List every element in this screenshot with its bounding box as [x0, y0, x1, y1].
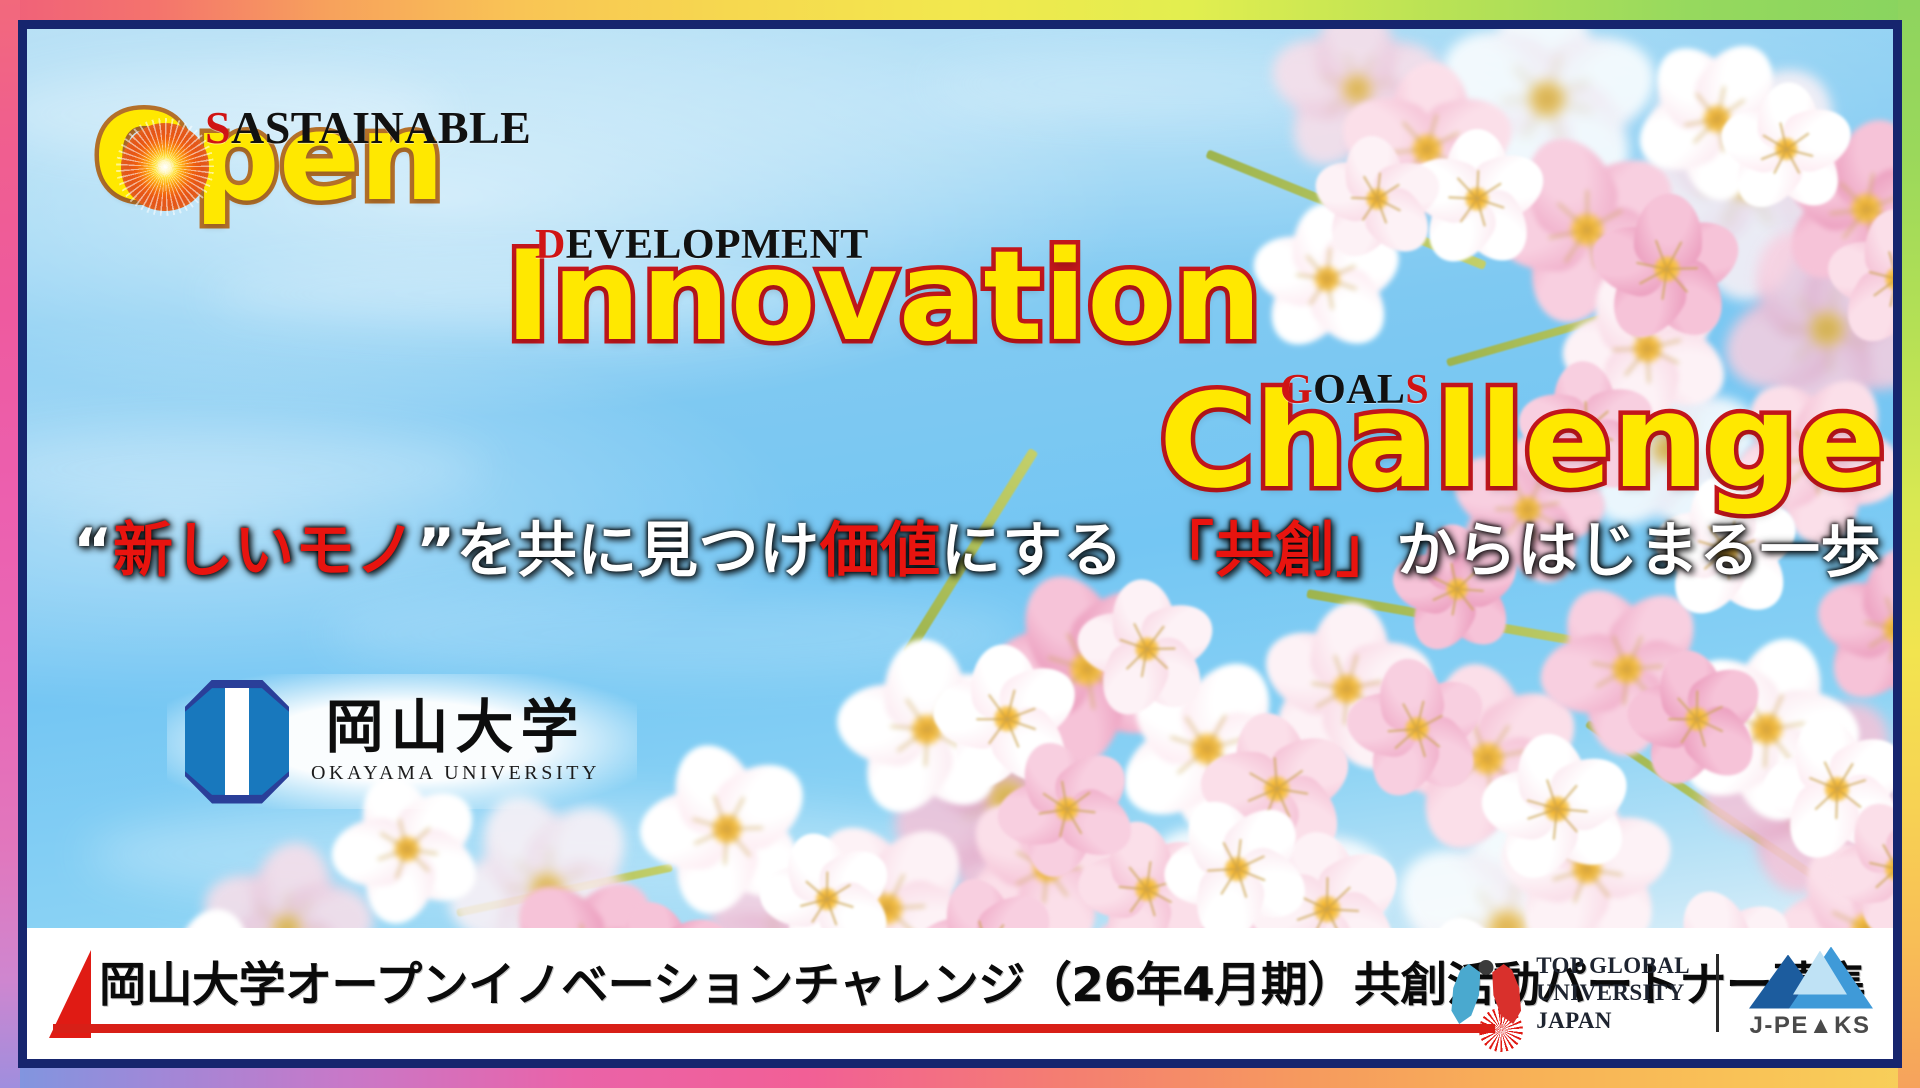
okayama-octagon-mark [185, 680, 289, 804]
tagline-quote-close: ” [416, 516, 456, 586]
promotional-banner: Open SASTAINABLE Innovation DEVELOPMENT … [0, 0, 1920, 1088]
tgu-line-2: UNIVERSITY [1536, 979, 1690, 1007]
okayama-university-name-en: OKAYAMA UNIVERSITY [311, 762, 600, 785]
j-peaks-wordmark: J-PE▲KS [1750, 1012, 1871, 1040]
top-global-university-japan-logo: TOP GLOBAL UNIVERSITY JAPAN [1448, 952, 1716, 1035]
kicker-goals-final: S [1405, 367, 1429, 413]
tgu-wordmark: TOP GLOBAL UNIVERSITY JAPAN [1536, 952, 1690, 1035]
tagline-red-new: 新しいモノ [113, 516, 416, 586]
tagline-white-2: にする [941, 516, 1184, 586]
tagline-white-3: からはじまる一歩 [1396, 516, 1881, 586]
rainbow-border-top [0, 0, 1920, 22]
kicker-goals-initial: G [1280, 367, 1313, 413]
butterfly-icon [1448, 956, 1524, 1030]
tagline-red-cocreate: 「共創」 [1184, 516, 1396, 586]
japanese-tagline: “新しいモノ”を共に見つけ価値にする 「共創」からはじまる一歩 [73, 521, 1873, 581]
butterfly-left-wing [1450, 964, 1480, 1024]
tagline-white-1: を共に見つけ [456, 516, 820, 586]
okayama-university-wordmark: 岡山大学 OKAYAMA UNIVERSITY [311, 698, 600, 785]
tagline-quote-open: “ [73, 516, 113, 586]
kicker-development: DEVELOPMENT [535, 221, 869, 269]
headline-group: Open SASTAINABLE Innovation DEVELOPMENT … [27, 29, 1893, 964]
sunburst-icon [121, 123, 209, 211]
kicker-goals-mid: OAL [1313, 367, 1405, 413]
kicker-development-rest: EVELOPMENT [566, 222, 869, 268]
kicker-development-initial: D [535, 222, 566, 268]
kicker-goals: GOALS [1280, 366, 1429, 414]
tgu-line-3: JAPAN [1536, 1007, 1690, 1035]
kicker-sastainable-rest: ASTAINABLE [231, 102, 531, 153]
kicker-sastainable: SASTAINABLE [205, 101, 531, 154]
octagon-white-stripe [225, 688, 250, 795]
butterfly-right-wing [1492, 964, 1522, 1024]
headline-word-challenge: Challenge [1159, 376, 1886, 506]
rainbow-border-left [0, 0, 20, 1088]
okayama-university-name-jp: 岡山大学 [326, 698, 586, 757]
navy-inner-frame: Open SASTAINABLE Innovation DEVELOPMENT … [18, 20, 1902, 1068]
red-underline-rule [53, 1024, 1495, 1033]
okayama-university-logo: 岡山大学 OKAYAMA UNIVERSITY [167, 674, 637, 809]
tagline-red-value: 価値 [820, 516, 941, 586]
